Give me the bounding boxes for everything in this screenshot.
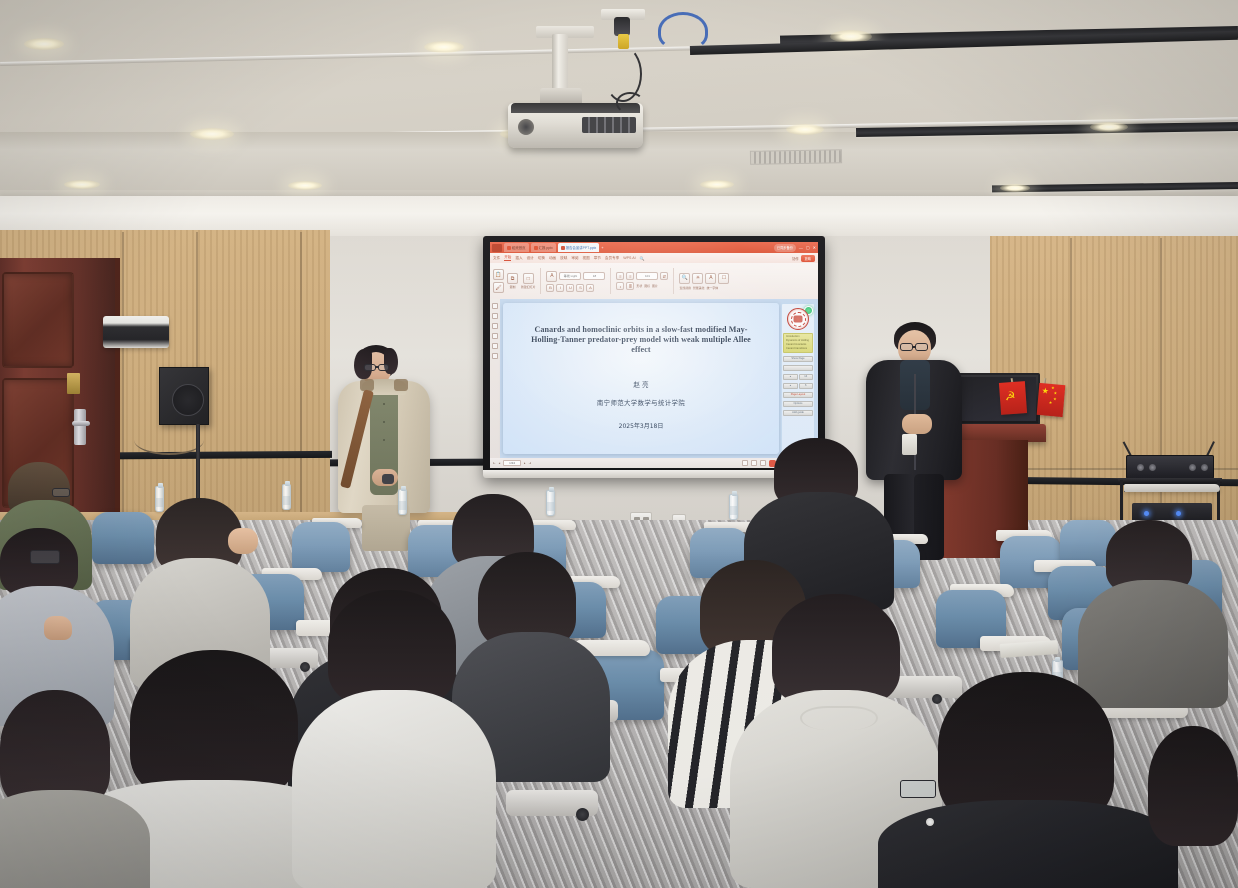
outline-icon[interactable]	[492, 313, 498, 319]
ribbon-clipboard-group[interactable]: 📋 🖌	[493, 269, 504, 293]
wps-status-bar[interactable]: ⇤ ◂ 1/34 ▸ ⇥ 120% − +	[490, 458, 818, 468]
projector-cable	[616, 92, 644, 114]
blue-cable-loop	[658, 12, 708, 50]
audience-member	[0, 790, 150, 888]
copy-icon[interactable]: ⧉	[507, 273, 518, 284]
glasses	[915, 343, 928, 351]
text-color-button[interactable]: A	[586, 284, 594, 292]
tab-add-button[interactable]: +	[601, 245, 603, 250]
projector-mount-pole	[552, 34, 568, 92]
lecture-chair[interactable]	[92, 512, 154, 564]
tab-label: 稻壳首页	[512, 245, 526, 250]
select-icon[interactable]: ☐	[718, 273, 729, 284]
glasses	[900, 780, 936, 798]
ceiling-downlight	[700, 180, 734, 189]
line-spacing-icon[interactable]: ⇵	[660, 272, 668, 280]
chair-caster	[300, 662, 310, 672]
shirt-button	[383, 439, 385, 441]
panel-seam	[300, 232, 302, 532]
small-star-icon: ★	[1053, 397, 1057, 401]
speaker-cable	[134, 425, 204, 455]
clapping-hand	[228, 528, 258, 554]
air-vent	[750, 149, 842, 165]
bold-button[interactable]: B	[546, 284, 554, 292]
chair-caster	[576, 808, 589, 821]
menu-item-file[interactable]: 文件	[493, 256, 500, 261]
hoodie-hood	[800, 706, 878, 730]
wps-left-rail[interactable]	[490, 299, 500, 458]
glasses-bridge	[375, 366, 379, 368]
grid-icon[interactable]	[751, 460, 757, 466]
projector-lens-icon	[518, 119, 534, 135]
clasped-hands	[902, 414, 932, 434]
share-area[interactable]: 协作 放映	[792, 255, 815, 262]
pen-icon[interactable]	[492, 343, 498, 349]
held-remote	[382, 474, 394, 484]
show-page-button[interactable]: Show Page	[783, 356, 813, 362]
ceiling-downlight	[64, 180, 100, 189]
wps-menu-bar[interactable]: 文件 开始 插入 设计 切换 动画 放映 审阅 视图 章节 会员专享 WPS A…	[490, 253, 818, 263]
slide-icon[interactable]	[492, 303, 498, 309]
zoom-field[interactable]: 101	[636, 272, 658, 280]
projected-desktop[interactable]: 稻壳首页 汇报.pptx 报告会宣讲PPT.pptx + 已同步备份 — ▢	[490, 242, 818, 468]
door-upper-panel	[2, 272, 74, 368]
ribbon-label[interactable]: 图片	[652, 284, 658, 288]
present-button[interactable]: 放映	[801, 255, 815, 262]
ribbon-divider	[610, 268, 611, 294]
glasses	[52, 488, 70, 497]
menu-item-slideshow[interactable]: 放映	[560, 256, 567, 261]
equipment-table	[1124, 484, 1220, 492]
audience-member	[878, 800, 1178, 888]
ceiling-downlight	[190, 128, 234, 140]
font-name-field[interactable]: 等线 Light	[559, 272, 581, 280]
align-left-icon[interactable]: ≡	[616, 272, 624, 280]
ribbon-label[interactable]: 查找替换	[679, 286, 691, 290]
audience-member	[328, 590, 456, 706]
ribbon-font-group[interactable]: A 等线 Light 18 B I U S A	[546, 271, 605, 292]
audience-member	[292, 690, 496, 888]
trouser-leg	[914, 474, 944, 560]
slide-date: 2025年3月18日	[619, 421, 664, 430]
minimize-button[interactable]: —	[799, 245, 803, 250]
small-star-icon: ★	[1049, 401, 1053, 405]
panel-seam	[122, 232, 124, 528]
ribbon-divider	[540, 268, 541, 294]
blank-button[interactable]	[783, 365, 813, 371]
window-controls[interactable]: 已同步备份 — ▢ ✕	[774, 244, 816, 252]
fit-icon[interactable]	[742, 460, 748, 466]
brush-icon[interactable]: 🖌	[493, 282, 504, 293]
water-bottle[interactable]	[546, 490, 555, 516]
lecture-chair[interactable]	[292, 522, 350, 572]
audience-member	[1078, 580, 1228, 708]
shirt-button	[383, 421, 385, 423]
prev-slide-button[interactable]: ◂	[499, 461, 501, 465]
reading-icon[interactable]	[760, 460, 766, 466]
page-layout-button[interactable]: Page Layout	[783, 392, 813, 398]
wps-tab-bar[interactable]: 稻壳首页 汇报.pptx 报告会宣讲PPT.pptx + 已同步备份 — ▢	[490, 242, 818, 253]
tab-label: 汇报.pptx	[539, 245, 553, 250]
name-badge	[902, 434, 917, 455]
door-plaque	[67, 373, 80, 394]
cloud-label: 已同步备份	[777, 245, 793, 250]
ceiling-downlight	[786, 124, 824, 135]
page-count-row[interactable]: ◂ 6	[783, 383, 813, 389]
clapping-hand	[44, 616, 72, 640]
ceiling-downlight	[1000, 184, 1030, 192]
ceiling-downlight	[288, 181, 322, 190]
ribbon-label: 复制	[510, 285, 516, 289]
ribbon-divider	[673, 268, 674, 294]
wps-workspace[interactable]: Canards and homoclinic orbits in a slow-…	[490, 299, 818, 458]
slide-side-pane[interactable]: Introduction Dynamics of Holling Canard …	[781, 303, 815, 454]
ceiling-downlight	[1090, 122, 1128, 132]
collaborate-label[interactable]: 协作	[792, 256, 798, 261]
projector-ports	[582, 117, 636, 133]
page-indicator[interactable]: 1/34	[503, 460, 521, 466]
align-center-icon[interactable]: ≡	[626, 272, 634, 280]
lecture-hall-photo: 稻壳首页 汇报.pptx 报告会宣讲PPT.pptx + 已同步备份 — ▢	[0, 0, 1238, 888]
chinese-national-flag: ★ ★ ★ ★ ★	[1037, 383, 1066, 417]
shirt-button	[383, 403, 385, 405]
wps-tab-1[interactable]: 汇报.pptx	[531, 243, 556, 252]
last-slide-button[interactable]: ⇥	[529, 461, 532, 465]
menu-item-view[interactable]: 视图	[583, 256, 590, 261]
projection-screen[interactable]: 稻壳首页 汇报.pptx 报告会宣讲PPT.pptx + 已同步备份 — ▢	[483, 236, 825, 477]
font-icon[interactable]: A	[546, 271, 557, 282]
ceiling-downlight	[424, 41, 464, 53]
wps-ribbon[interactable]: 📋 🖌 ⧉ 复制 □ 新建幻灯片 A 等线 Light 18	[490, 263, 818, 299]
menu-item-wps-ai[interactable]: WPS AI	[623, 256, 635, 260]
slide-author: 赵 亮	[633, 379, 648, 389]
menu-item-home[interactable]: 开始	[504, 255, 511, 261]
wps-tab-2[interactable]: 报告会宣讲PPT.pptx	[558, 243, 600, 252]
ribbon-paragraph-group[interactable]: ≡ ≡ 101 ⇵ • ≣ 形状 图标 图片	[616, 272, 668, 290]
page-count-row[interactable]: ◂ 14	[783, 374, 813, 380]
page-count-6[interactable]: 6	[799, 383, 814, 389]
slide-canvas[interactable]: Canards and homoclinic orbits in a slow-…	[500, 299, 818, 458]
ribbon-label[interactable]: 智能美化	[693, 286, 705, 290]
door-lock-plate[interactable]	[74, 409, 86, 445]
comment-icon[interactable]	[492, 333, 498, 339]
outline-highlight-box[interactable]: Introduction Dynamics of Holling Canard …	[783, 333, 813, 353]
communist-party-flag: ☭	[999, 381, 1027, 415]
audience-member	[1148, 726, 1238, 846]
underline-button[interactable]: U	[566, 284, 574, 292]
university-seal-icon	[787, 308, 809, 330]
outline-item[interactable]: Canard transitions	[786, 347, 810, 351]
ribbon-label[interactable]: 形状	[636, 284, 642, 288]
water-bottle[interactable]	[282, 484, 291, 510]
stepper-left[interactable]: ◂	[783, 383, 798, 389]
wall-speaker	[159, 367, 209, 425]
ribbon-newslide-group[interactable]: □ 新建幻灯片	[521, 273, 535, 289]
font-size-field[interactable]: 18	[583, 272, 605, 280]
numbering-icon[interactable]: ≣	[626, 282, 634, 290]
add-guide-button[interactable]: Add guide	[783, 410, 813, 416]
close-button[interactable]: ✕	[813, 245, 816, 250]
next-slide-button[interactable]: ▸	[524, 461, 526, 465]
ribbon-tools-group[interactable]: 🔍 ☀ A ☐ 查找替换 智能美化 统一字体	[679, 273, 729, 290]
ppt-icon	[561, 246, 565, 250]
big-star-icon: ★	[1041, 387, 1049, 396]
menu-item-member[interactable]: 会员专享	[605, 256, 619, 261]
glasses	[30, 550, 60, 564]
ceiling-downlight	[24, 38, 64, 50]
menu-item-review[interactable]: 审阅	[571, 256, 578, 261]
earring	[926, 818, 934, 826]
more-icon[interactable]	[492, 353, 498, 359]
ribbon-copy-group[interactable]: ⧉ 复制	[507, 273, 518, 289]
ribbon-label[interactable]: 统一字体	[707, 286, 719, 290]
menu-item-design[interactable]: 设计	[527, 256, 534, 261]
menu-item-insert[interactable]: 插入	[515, 256, 522, 261]
ribbon-label[interactable]: 图标	[644, 284, 650, 288]
hammer-and-sickle-icon: ☭	[1004, 390, 1019, 405]
chair-caster	[932, 694, 942, 704]
water-bottle[interactable]	[155, 486, 164, 512]
slide-title: Canards and homoclinic orbits in a slow-…	[526, 325, 756, 355]
clipboard-icon[interactable]: 📋	[493, 269, 504, 280]
ppt-icon	[534, 246, 538, 250]
water-bottle[interactable]	[729, 494, 738, 520]
menu-item-section[interactable]: 章节	[594, 256, 601, 261]
speaker-cone-icon	[172, 384, 204, 416]
ribbon-label: 新建幻灯片	[521, 285, 535, 289]
strikethrough-button[interactable]: S	[576, 284, 584, 292]
maximize-button[interactable]: ▢	[806, 245, 810, 250]
current-slide[interactable]: Canards and homoclinic orbits in a slow-…	[503, 303, 779, 454]
bullets-icon[interactable]: •	[616, 282, 624, 290]
page-count-14[interactable]: 14	[799, 374, 814, 380]
cloud-sync-badge[interactable]: 已同步备份	[774, 244, 796, 252]
wireless-microphone-receiver	[1126, 455, 1214, 479]
glasses	[378, 364, 389, 371]
wall-mounted-ac-unit	[103, 316, 169, 348]
wps-tab-0[interactable]: 稻壳首页	[504, 243, 529, 252]
coat-hood	[394, 379, 408, 391]
tab-label: 报告会宣讲PPT.pptx	[566, 245, 597, 250]
menu-item-transition[interactable]: 切换	[538, 256, 545, 261]
unify-font-icon[interactable]: A	[705, 273, 716, 284]
audience-member	[130, 650, 298, 800]
search-icon[interactable]: 🔍	[640, 256, 645, 261]
door-lever-handle[interactable]	[72, 421, 90, 426]
slide-institution: 南宁师范大学数学与统计学院	[597, 398, 685, 407]
menu-item-animation[interactable]: 动画	[549, 256, 556, 261]
italic-button[interactable]: I	[556, 284, 564, 292]
panel-seam	[1070, 238, 1072, 558]
small-star-icon: ★	[1053, 391, 1057, 395]
beautify-icon[interactable]: ☀	[692, 273, 703, 284]
notes-icon[interactable]	[492, 323, 498, 329]
home-icon	[507, 246, 511, 250]
stepper-left[interactable]: ◂	[783, 374, 798, 380]
wps-logo-icon	[492, 244, 502, 252]
options-button[interactable]: Options	[783, 401, 813, 407]
water-bottle[interactable]	[398, 489, 407, 515]
first-slide-button[interactable]: ⇤	[493, 461, 496, 465]
new-slide-icon[interactable]: □	[523, 273, 534, 284]
find-replace-icon[interactable]: 🔍	[679, 273, 690, 284]
glasses-bridge	[912, 346, 916, 348]
